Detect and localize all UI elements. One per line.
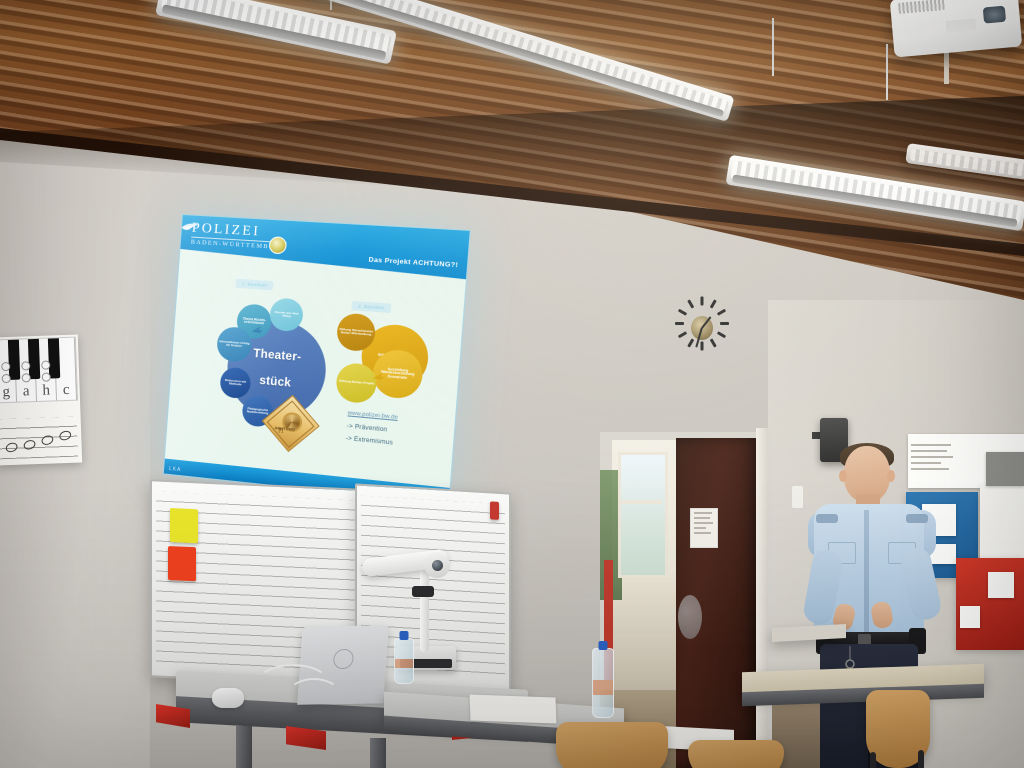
polizei-bird-icon <box>180 220 203 234</box>
chair-front-left[interactable] <box>556 722 668 768</box>
red-marker-clip[interactable] <box>490 501 499 520</box>
badge-mark: ?! <box>277 428 283 435</box>
clock-tick <box>687 338 694 347</box>
corridor-window <box>618 452 668 578</box>
key-label: g <box>0 384 16 402</box>
chair-back <box>556 722 668 768</box>
classroom-photo: POLIZEI BADEN-WÜRTTEMBERG Das Projekt AC… <box>0 0 1024 768</box>
slide-header-wedge <box>179 249 467 288</box>
chair-front-right[interactable] <box>688 740 784 768</box>
chair-right[interactable] <box>866 690 930 768</box>
key-dot <box>1 374 10 383</box>
music-theory-poster: g a h c <box>0 335 82 466</box>
bottle-label <box>395 659 413 669</box>
clock-tick <box>701 342 704 351</box>
epaulette-left <box>816 514 838 523</box>
clock-tick <box>717 309 726 316</box>
state-seal-icon <box>268 236 287 254</box>
key-label: c <box>56 382 76 400</box>
epaulette-right <box>906 514 928 523</box>
desk-leg-left <box>236 726 252 768</box>
chair-frame <box>870 752 876 768</box>
connector-arrow-right <box>371 371 386 381</box>
door-notice-sheet <box>690 508 718 548</box>
chair-frame <box>918 750 924 768</box>
clock-tick <box>717 331 726 338</box>
slide-bullet-2: -> Extremismus <box>346 435 394 447</box>
key-label: a <box>16 383 36 401</box>
projector-lens-icon <box>983 6 1006 24</box>
ear-left <box>839 470 847 482</box>
cable-loop-2 <box>288 678 340 710</box>
computer-mouse[interactable] <box>212 688 244 708</box>
section-label-left: 1. Baustein <box>235 279 273 291</box>
ear-right <box>887 470 895 482</box>
orange-magnet[interactable] <box>168 546 196 581</box>
notice-line <box>694 522 713 524</box>
window-mullion <box>618 500 662 504</box>
slide-footer-tag: LKA <box>169 466 182 473</box>
white-key: a <box>15 339 37 402</box>
camera-lens-icon <box>432 560 443 571</box>
projection-screen: POLIZEI BADEN-WÜRTTEMBERG Das Projekt AC… <box>163 214 471 505</box>
presentation-slide: POLIZEI BADEN-WÜRTTEMBERG Das Projekt AC… <box>163 214 471 505</box>
worksheets-1 <box>470 694 557 723</box>
key-dot <box>41 373 50 382</box>
wall-clock <box>672 296 732 360</box>
staff-note <box>58 429 72 442</box>
door-handle[interactable] <box>678 595 702 639</box>
bottle-cap <box>400 631 409 640</box>
student-drawing-4 <box>960 606 980 628</box>
piano-keys-diagram: g a h c <box>0 337 78 404</box>
light-rod-4 <box>886 44 888 100</box>
poster-staff <box>0 417 78 460</box>
clock-tick <box>710 338 717 347</box>
key-label: h <box>36 382 56 400</box>
white-key: h <box>35 338 57 401</box>
clock-tick <box>701 297 704 306</box>
desk-leg-right <box>370 738 386 768</box>
section-label-right: 2. Baustein <box>351 301 391 313</box>
bottle-label <box>593 680 613 695</box>
clock-tick <box>710 299 717 308</box>
key-dot <box>21 373 30 382</box>
notice-line <box>694 532 711 534</box>
staff-note <box>4 441 18 454</box>
water-bottle-pupil[interactable] <box>592 648 614 718</box>
chair-back <box>688 740 784 768</box>
hp-logo-icon <box>333 649 354 669</box>
staff-note <box>22 439 36 452</box>
water-bottle-desk[interactable] <box>394 638 414 684</box>
clock-tick <box>678 309 687 316</box>
clock-tick <box>720 322 729 325</box>
clock-tick <box>675 322 684 325</box>
projector-panel <box>946 18 977 33</box>
clock-tick <box>678 331 687 338</box>
notice-line <box>694 517 710 519</box>
bottle-cap <box>599 641 608 650</box>
light-rod-2 <box>330 0 332 10</box>
yellow-magnet[interactable] <box>170 508 198 543</box>
white-key: c <box>55 338 77 401</box>
slide-header-title: Das Projekt ACHTUNG?! <box>368 256 458 269</box>
slide-bullet-1: -> Prävention <box>346 423 387 434</box>
shirt-placket <box>864 510 869 634</box>
slide-weblink[interactable]: www.polizei-bw.de <box>347 410 398 421</box>
bubble-theater-label: Theater- stück <box>249 346 304 393</box>
staff-note <box>40 434 54 447</box>
door-jamb <box>756 428 768 768</box>
notice-line <box>694 527 706 529</box>
document-camera-post <box>420 568 429 652</box>
notice-line <box>694 512 712 514</box>
light-rod-3 <box>772 18 774 76</box>
wall-thermostat[interactable] <box>792 486 803 508</box>
document-camera-joint <box>412 586 434 597</box>
connector-arrow-left <box>250 324 264 334</box>
clock-tick <box>687 299 694 308</box>
projector-vent <box>898 0 945 14</box>
student-drawing-3 <box>988 572 1014 598</box>
poster-right-upper <box>986 452 1024 486</box>
